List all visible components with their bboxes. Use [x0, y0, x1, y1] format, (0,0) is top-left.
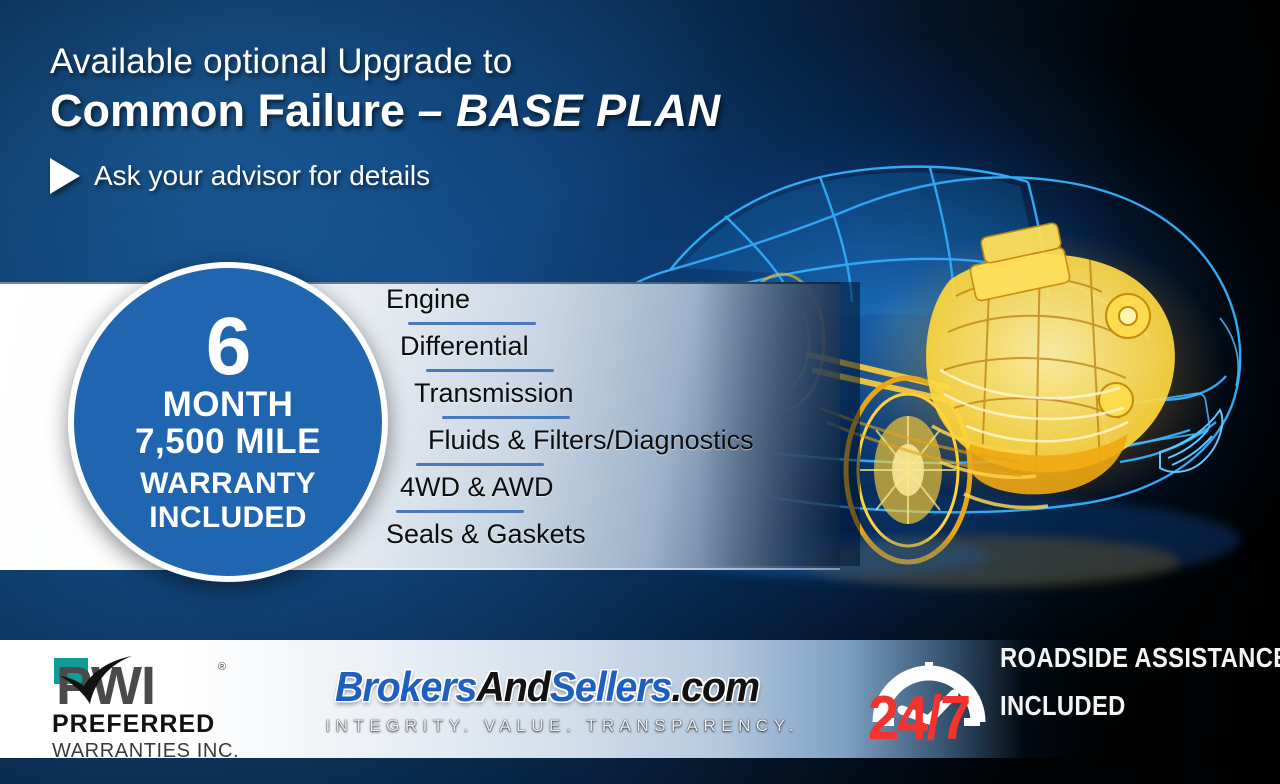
roadside-text: ROADSIDE ASSISTANCE INCLUDED	[1000, 644, 1280, 720]
badge-term-number: 6	[206, 309, 251, 384]
play-triangle-icon	[50, 158, 80, 194]
coverage-list: Engine Differential Transmission Fluids …	[386, 286, 826, 548]
badge-included-label: INCLUDED	[149, 501, 306, 535]
headline-line-1: Available optional Upgrade to	[50, 42, 830, 82]
coverage-divider-1	[408, 322, 536, 325]
warranty-badge: 6 MONTH 7,500 MILE WARRANTY INCLUDED	[68, 262, 388, 582]
wordmark-part-dotcom: .com	[671, 663, 759, 710]
coverage-item-engine: Engine	[386, 286, 826, 313]
coverage-divider-2	[426, 369, 554, 372]
advisor-callout: Ask your advisor for details	[50, 158, 830, 194]
pwi-wordmark: PWI ®	[52, 654, 242, 710]
brokersandsellers-tagline: INTEGRITY. VALUE. TRANSPARENCY.	[312, 717, 812, 734]
headline-block: Available optional Upgrade to Common Fai…	[50, 42, 830, 194]
roadside-line-2: INCLUDED	[1000, 692, 1280, 720]
roadside-line-1: ROADSIDE ASSISTANCE	[1000, 644, 1280, 672]
coverage-item-seals-gaskets: Seals & Gaskets	[386, 521, 826, 548]
roadside-247-badge: 24/7	[868, 688, 969, 750]
coverage-divider-4	[416, 463, 544, 466]
coverage-item-4wd-awd: 4WD & AWD	[400, 474, 826, 501]
advisor-callout-text: Ask your advisor for details	[94, 160, 430, 192]
pwi-logo: PWI ® PREFERRED WARRANTIES INC.	[52, 654, 242, 761]
pwi-tagline-line-2: WARRANTIES INC.	[52, 741, 242, 761]
coverage-item-differential: Differential	[400, 333, 826, 360]
headline-line-2: Common Failure – BASE PLAN	[50, 86, 830, 136]
badge-term-unit: MONTH	[163, 387, 294, 424]
badge-mileage: 7,500 MILE	[135, 424, 321, 461]
promo-banner: Available optional Upgrade to Common Fai…	[0, 0, 1280, 784]
brokersandsellers-wordmark: BrokersAndSellers.com	[312, 666, 782, 708]
coverage-item-transmission: Transmission	[414, 380, 826, 407]
brokersandsellers-logo[interactable]: BrokersAndSellers.com INTEGRITY. VALUE. …	[312, 666, 812, 734]
wordmark-part-and: And	[476, 663, 549, 710]
svg-text:®: ®	[218, 661, 226, 673]
badge-warranty-label: WARRANTY	[140, 467, 316, 501]
headline-plan-emphasis: – BASE PLAN	[418, 85, 721, 136]
pwi-tagline-line-1: PREFERRED	[52, 712, 242, 737]
coverage-item-fluids-filters: Fluids & Filters/Diagnostics	[428, 427, 826, 454]
wordmark-part-sellers: Sellers	[550, 663, 672, 710]
wordmark-part-brokers: Brokers	[335, 663, 476, 710]
coverage-divider-3	[442, 416, 570, 419]
headline-plan-prefix: Common Failure	[50, 85, 418, 136]
coverage-divider-5	[396, 510, 524, 513]
